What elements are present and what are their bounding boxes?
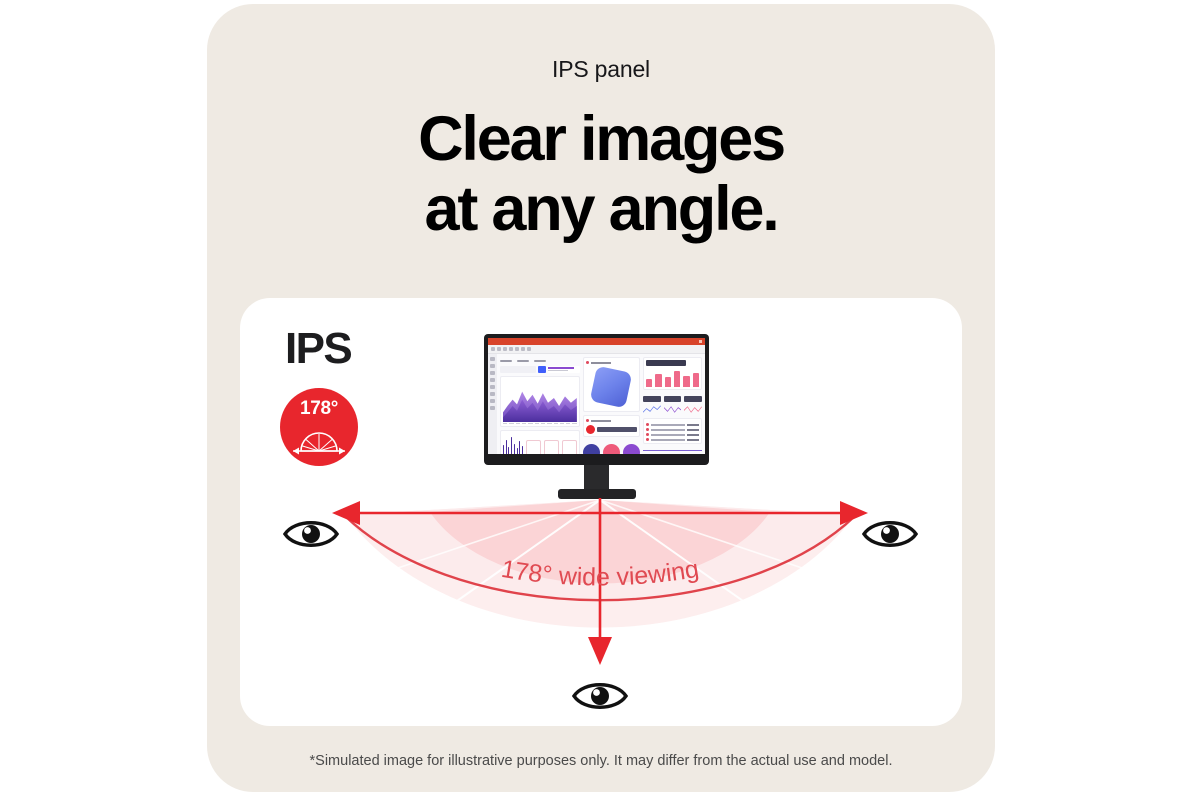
dashboard-toolbar: [488, 345, 705, 354]
list-card: [643, 418, 702, 444]
dashboard-title-bar: [488, 338, 705, 345]
list-item: [646, 433, 699, 436]
toolbar-icon: [503, 347, 507, 351]
dashboard-column-left: [500, 357, 580, 451]
eyebrow-label: IPS panel: [207, 56, 995, 83]
list-item: [646, 423, 699, 426]
dashboard-body: [488, 354, 705, 454]
viewing-angle-diagram: 178° wide viewing: [0, 460, 1200, 710]
dashboard-sidebar: [488, 354, 497, 454]
page-title: Clear images at any angle.: [207, 104, 995, 244]
card-title: [586, 418, 637, 423]
sidebar-icon: [490, 357, 495, 361]
stat-tile: [562, 440, 577, 454]
stat-trio: [643, 396, 702, 415]
viewing-angle-fan-icon: [289, 424, 349, 456]
eye-bottom-icon: [572, 679, 628, 713]
mini-bar-chart: [646, 369, 699, 387]
bar-chart: [503, 436, 523, 454]
sidebar-icon: [490, 364, 495, 368]
sidebar-icon: [490, 371, 495, 375]
dashboard-column-middle: [583, 357, 640, 451]
dashboard-nav: [500, 357, 580, 373]
monitor-screen: [488, 338, 705, 454]
dashboard-column-right: [643, 357, 702, 451]
stat-tile: [544, 440, 559, 454]
close-icon: [699, 340, 702, 343]
sidebar-icon: [490, 406, 495, 410]
disclaimer-text: *Simulated image for illustrative purpos…: [207, 753, 995, 769]
toolbar-icon: [509, 347, 513, 351]
kpi-value: [597, 427, 637, 432]
metric-circle: [623, 444, 640, 454]
area-chart-card: [500, 376, 580, 427]
eye-right-icon: [862, 517, 918, 551]
metric-circle: [583, 444, 600, 454]
toolbar-icon: [497, 347, 501, 351]
sidebar-icon: [490, 378, 495, 382]
performance-card: [583, 357, 640, 412]
revenue-card: [643, 357, 702, 390]
list-item: [646, 438, 699, 441]
headline-line-2: at any angle.: [207, 174, 995, 244]
area-chart: [503, 382, 577, 422]
search-button[interactable]: [538, 366, 546, 373]
sidebar-icon: [490, 399, 495, 403]
sidebar-icon: [490, 392, 495, 396]
promo-banner-small: [548, 366, 580, 373]
chart-axis: [503, 423, 577, 424]
ips-label: IPS: [285, 324, 351, 374]
list-item: [646, 428, 699, 431]
3d-chart: [586, 365, 637, 409]
highlight-card: [643, 450, 702, 451]
kpi-icon: [586, 425, 595, 434]
revenue-value: [646, 360, 686, 366]
stat-tile: [526, 440, 541, 454]
discount-card: [583, 415, 640, 437]
monitor-bezel: [484, 334, 709, 465]
toolbar-icon: [521, 347, 525, 351]
metric-circle: [603, 444, 620, 454]
badge-angle-value: 178°: [280, 398, 358, 420]
nav-item: [517, 360, 529, 362]
dashboard-main: [497, 354, 705, 454]
bar-chart-card: [500, 430, 580, 454]
sidebar-icon: [490, 385, 495, 389]
viewing-angle-badge: 178°: [280, 388, 358, 466]
nav-item: [534, 360, 546, 362]
nav-item: [500, 360, 512, 362]
toolbar-icon: [515, 347, 519, 351]
promo-banner: IPS panel Clear images at any angle. IPS…: [0, 0, 1200, 796]
metric-circles: [583, 440, 640, 454]
headline-line-1: Clear images: [418, 104, 784, 174]
eye-left-icon: [283, 517, 339, 551]
stat-item: [664, 396, 682, 415]
kpi-row: [586, 425, 637, 434]
stat-item: [643, 396, 661, 415]
stat-item: [684, 396, 702, 415]
toolbar-icon: [527, 347, 531, 351]
search-input[interactable]: [500, 366, 536, 373]
toolbar-icon: [491, 347, 495, 351]
